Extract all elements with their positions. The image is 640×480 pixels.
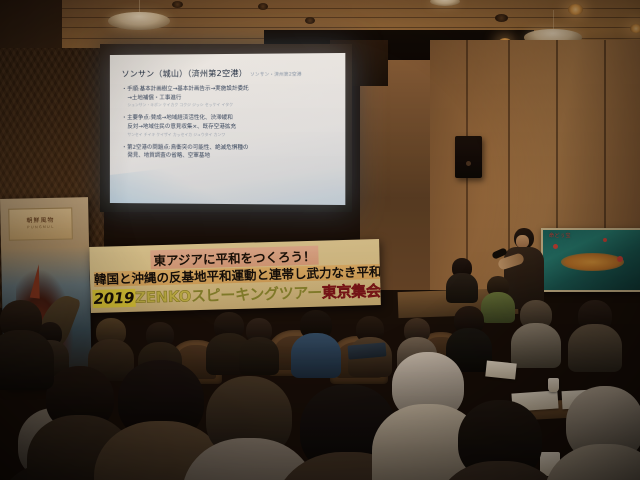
person-foreground <box>118 360 204 440</box>
slide-bullet: ・主要争点:賛成→地域経済活性化、渋滞緩和 反対→地域住民の意見収集×、既存空港… <box>122 114 334 138</box>
person-foreground <box>566 386 640 462</box>
banner-year: 2019 <box>92 289 135 308</box>
person-audience <box>578 300 612 332</box>
right-banner-text: 命どぅ宝 <box>549 232 571 239</box>
slide-title-sub: ソンサン・済州第2空港 <box>250 73 302 78</box>
pendant-light <box>430 0 460 6</box>
person-audience <box>96 318 126 346</box>
person-audience <box>214 312 244 340</box>
handout-paper <box>485 360 517 379</box>
ceiling-spotlight <box>630 24 640 33</box>
wall-speaker-icon <box>455 136 482 178</box>
person-audience <box>520 300 552 330</box>
ceiling-spotlight-off <box>495 14 508 22</box>
person-foreground <box>458 400 542 480</box>
slide-bullet: ・手順:基本計画樹立→基本計画告示→実施設計委託 →土地補償・工事進行 シュンサ… <box>122 84 334 108</box>
main-banner: 東アジアに平和をつくろう！ 韓国と沖縄の反基地平和運動と連帯し武力なき平和をつく… <box>89 239 381 313</box>
banner-tour: スピーキングツアー <box>191 284 322 306</box>
ceiling-spotlight-off <box>172 1 183 8</box>
pendant-light <box>108 0 170 30</box>
poster-label-sub: ＰＵＮＧＭＵＬ <box>10 223 72 229</box>
ceiling-spotlight <box>568 4 583 15</box>
person-foreground <box>206 376 292 458</box>
projection-screen: ソンサン（城山）（済州第2空港）ソンサン・済州第2空港 ・手順:基本計画樹立→基… <box>110 53 345 205</box>
person-audience <box>300 310 332 340</box>
ceiling-spotlight-off <box>305 17 315 24</box>
person-audience <box>454 306 484 335</box>
person-audience <box>246 318 272 343</box>
person-audience <box>146 322 174 348</box>
slide-bullet-annotation: シュンサン・キボン ケイカク コクジ ジッシ セッケイ イタク <box>122 102 334 109</box>
ceiling-spotlight-off <box>258 3 268 10</box>
slide-bullet: ・第2空港の問題点:鳥衝突の可能性、絶滅危惧種の 発見、地質調査の省略、空軍基地 <box>122 144 334 162</box>
slide-bullet-annotation: サンセイ チイキ ケイザイ カッセイカ ジュウタイ カンワ <box>122 132 334 138</box>
paper-cup <box>548 378 559 392</box>
person-audience <box>404 318 430 343</box>
person-foreground <box>46 366 114 430</box>
person-seated <box>487 276 509 297</box>
right-banner: 命どぅ宝 <box>541 228 640 292</box>
banner-tokyo: 東京集会 <box>322 282 381 302</box>
poster-label: 朝鮮風物 ＰＵＮＧＭＵＬ <box>8 207 73 240</box>
person-seated <box>452 258 472 278</box>
person-audience <box>0 300 42 340</box>
slide-title: ソンサン（城山）（済州第2空港）ソンサン・済州第2空港 <box>122 66 334 79</box>
slide-bullet-line2: 反対→地域住民の意見収集×、既存空港拡充 <box>122 123 334 132</box>
person-foreground <box>392 352 464 420</box>
conference-hall-photo: ソンサン（城山）（済州第2空港）ソンサン・済州第2空港 ・手順:基本計画樹立→基… <box>0 0 640 480</box>
banner-org: ZENKO <box>135 287 191 307</box>
person-audience <box>356 316 384 343</box>
